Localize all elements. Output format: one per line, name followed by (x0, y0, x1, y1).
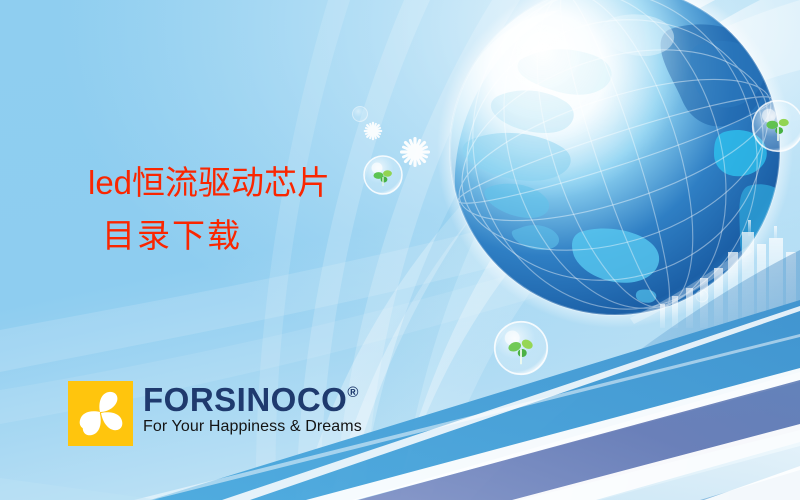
headline-line-1: led恒流驱动芯片 (88, 166, 508, 199)
bubble-pinwheel (495, 322, 548, 375)
sparkle-icon (400, 137, 430, 167)
headline-line-2: 目录下载 (102, 219, 508, 252)
sparkle-icon (364, 122, 383, 141)
bubble-small (353, 107, 368, 122)
pinwheel-flower-icon (68, 381, 133, 446)
headline-text: led恒流驱动芯片 目录下载 (88, 166, 508, 252)
logo-wordmark: FORSINOCO® (143, 383, 362, 416)
registered-trademark-icon: ® (347, 384, 359, 401)
banner-image: led恒流驱动芯片 目录下载 FORSINOCO® For Your Happi… (0, 0, 800, 500)
logo-tagline: For Your Happiness & Dreams (143, 418, 362, 436)
company-logo: FORSINOCO® For Your Happiness & Dreams (68, 381, 362, 446)
logo-wordmark-text: FORSINOCO (143, 381, 347, 418)
bubble-small (696, 290, 708, 302)
bubble-pinwheel (753, 101, 800, 152)
